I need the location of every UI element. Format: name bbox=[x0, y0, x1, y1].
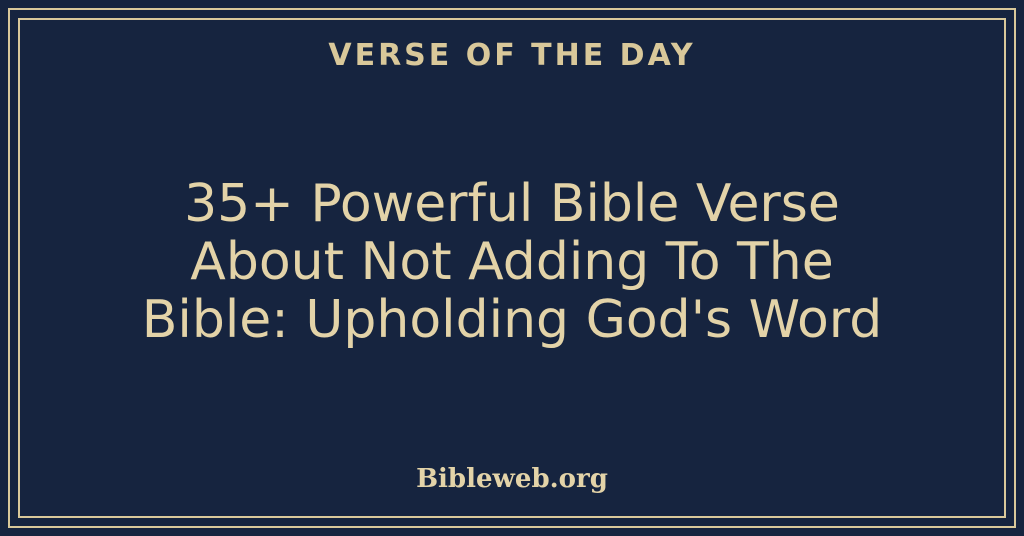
verse-of-the-day-card: VERSE OF THE DAY 35+ Powerful Bible Vers… bbox=[0, 0, 1024, 536]
headline-line-3: Bible: Upholding God's Word bbox=[40, 291, 984, 349]
kicker-label: VERSE OF THE DAY bbox=[0, 38, 1024, 73]
headline-line-2: About Not Adding To The bbox=[40, 233, 984, 291]
headline-line-1: 35+ Powerful Bible Verse bbox=[40, 175, 984, 233]
page-title: 35+ Powerful Bible Verse About Not Addin… bbox=[40, 175, 984, 349]
site-name: Bibleweb.org bbox=[0, 464, 1024, 494]
